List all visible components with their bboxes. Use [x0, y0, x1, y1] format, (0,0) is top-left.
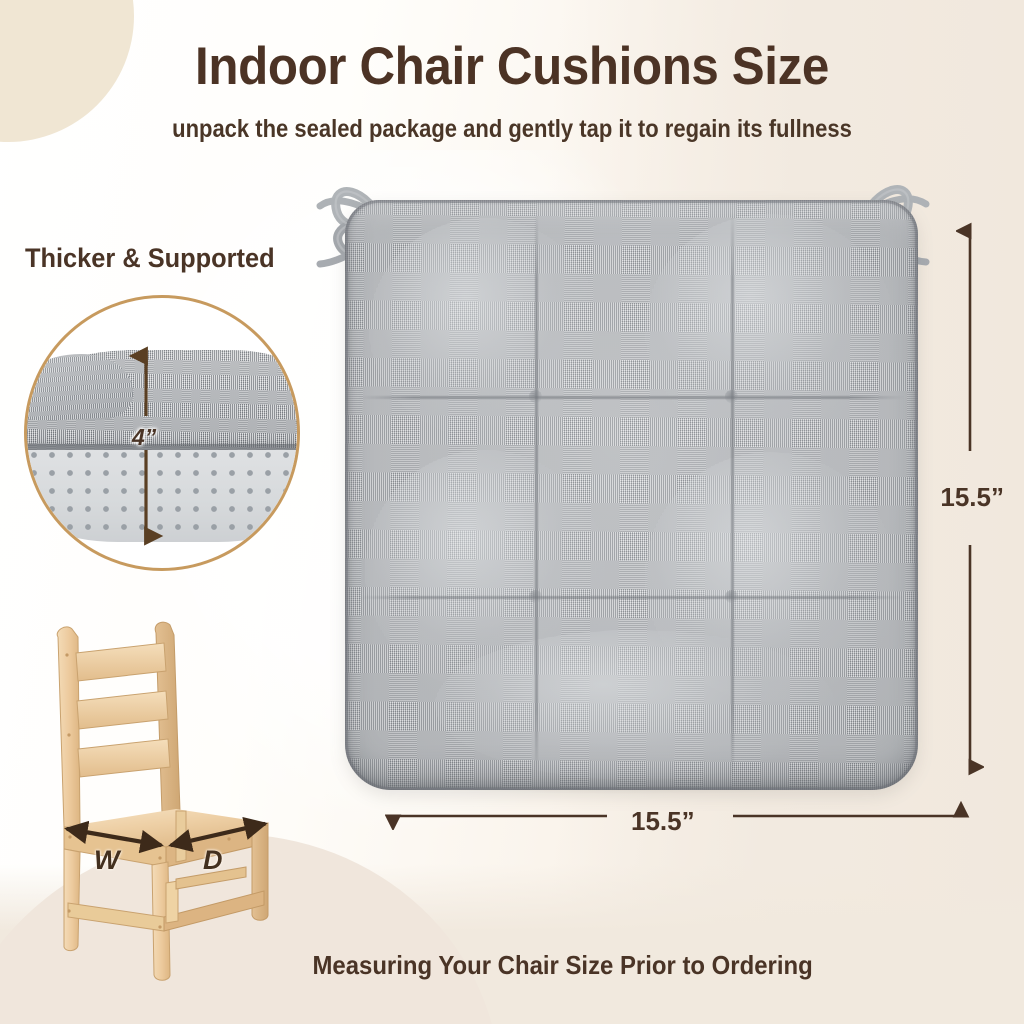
thickness-dimension-arrow	[27, 298, 297, 568]
cushion-body	[345, 200, 918, 790]
thickness-value-label: 4”	[132, 424, 156, 451]
height-dimension-label: 15.5”	[940, 482, 1004, 513]
inset-clip: 4”	[27, 298, 297, 568]
thickness-detail-inset: 4”	[24, 295, 300, 571]
width-dimension-label: 15.5”	[631, 806, 695, 837]
footer-caption: Measuring Your Chair Size Prior to Order…	[41, 950, 983, 981]
product-cushion-image	[300, 160, 960, 810]
page-subtitle: unpack the sealed package and gently tap…	[61, 115, 962, 144]
wooden-chair-illustration	[40, 615, 320, 990]
callout-label-thicker-supported: Thicker & Supported	[25, 243, 275, 274]
page-title: Indoor Chair Cushions Size	[36, 36, 988, 97]
chair-depth-label: D	[203, 845, 223, 876]
chair-width-label: W	[94, 845, 119, 876]
infographic-canvas: Indoor Chair Cushions Size unpack the se…	[0, 0, 1024, 1024]
